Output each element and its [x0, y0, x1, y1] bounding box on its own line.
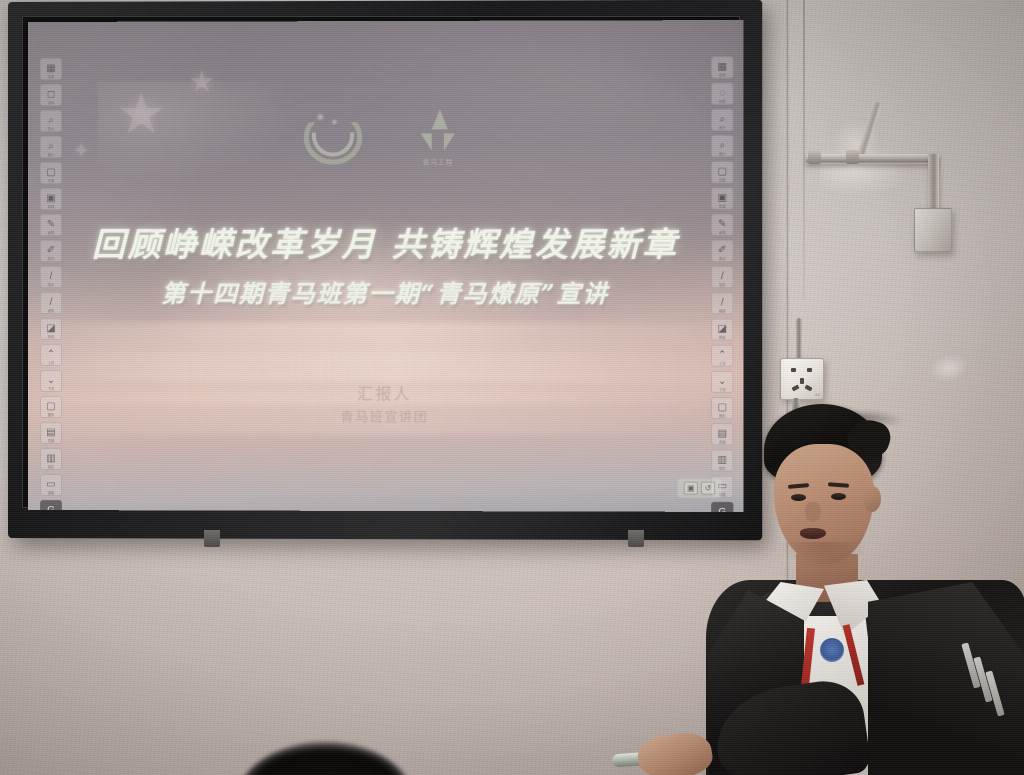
- icon-glyph: ▢: [46, 168, 55, 178]
- socket-slot: [791, 368, 796, 372]
- icon-glyph: ◻: [47, 90, 55, 100]
- icon-caption: 键盘: [41, 492, 61, 495]
- icon-caption: 新建: [41, 206, 61, 209]
- refresh-icon[interactable]: ◌刷新: [711, 83, 733, 105]
- highlighter-icon[interactable]: ✐荧光: [711, 240, 733, 262]
- menu-grid-icon[interactable]: ▦菜单: [40, 58, 62, 80]
- marker-icon[interactable]: /笔形: [40, 266, 62, 288]
- icon-caption: 新建: [712, 205, 732, 208]
- icon-glyph: ⌃: [47, 350, 55, 360]
- page-icon[interactable]: ▢页面: [711, 161, 733, 183]
- hand: [635, 728, 715, 775]
- icon-glyph: ▥: [46, 454, 55, 464]
- icon-caption: 细笔: [41, 310, 61, 313]
- icon-caption: 笔形: [712, 284, 732, 287]
- icon-glyph: /: [721, 272, 724, 282]
- junction-conduit: [929, 250, 936, 278]
- icon-glyph: ▭: [46, 480, 55, 490]
- slide-presenter-line: 汇报人: [28, 380, 744, 405]
- conduit-pipe: [806, 154, 938, 164]
- wall-edge-line: [803, 0, 805, 300]
- icon-glyph: ▤: [46, 428, 55, 438]
- icon-caption: 选择: [41, 102, 61, 105]
- zoom-out-icon[interactable]: ⌕缩小: [40, 136, 62, 158]
- junction-box: [914, 208, 952, 252]
- ear: [864, 486, 881, 512]
- icon-glyph: ⌕: [48, 116, 54, 126]
- chevron-up-icon[interactable]: ⌃上页: [40, 344, 62, 366]
- wall-socket[interactable]: 86: [780, 358, 824, 400]
- page-icon[interactable]: ▢页面: [40, 162, 62, 184]
- slide-title: 回顾峥嵘改革岁月 共铸辉煌发展新章: [28, 218, 744, 266]
- icon-caption: 放大: [712, 126, 732, 129]
- icon-caption: 页面: [712, 179, 732, 182]
- table-icon[interactable]: ▤表格: [40, 422, 62, 444]
- keyboard-icon[interactable]: ▭键盘: [40, 474, 62, 496]
- highlighter-icon[interactable]: ✐荧光: [40, 240, 62, 262]
- icon-caption: 页面: [41, 180, 61, 183]
- chevron-down-icon[interactable]: ⌄下页: [40, 370, 62, 392]
- icon-glyph: ▦: [46, 64, 55, 74]
- socket-label: 86: [815, 392, 820, 397]
- icon-glyph: ✎: [718, 220, 727, 230]
- whiteboard-toolbar-left[interactable]: ▦菜单 ◻选择 ⌕放大 ⌕缩小 ▢页面 ▣新建 ✎画笔 ✐荧光 /笔形 /细笔 …: [40, 58, 62, 512]
- icon-caption: 上页: [41, 362, 61, 365]
- icon-glyph: /: [50, 272, 53, 282]
- icon-caption: 菜单: [41, 76, 61, 79]
- icon-glyph: ◪: [46, 324, 55, 334]
- whiteboard-mount-bracket: [204, 530, 220, 547]
- icon-glyph: ⌕: [719, 115, 725, 125]
- chevron-down-icon[interactable]: ⌄下页: [711, 371, 733, 393]
- youth-league-emblem-icon: [304, 110, 362, 164]
- eye: [791, 494, 806, 501]
- icon-caption: 表格: [41, 440, 61, 443]
- qingma-triangle-mark-icon: 青马工程: [411, 109, 465, 165]
- icon-glyph: ▣: [717, 193, 727, 203]
- icon-caption: 放大: [41, 128, 61, 131]
- icon-glyph: ⌕: [48, 142, 54, 152]
- zoom-out-icon[interactable]: ⌕缩小: [711, 135, 733, 157]
- jaw-shadow: [780, 542, 866, 568]
- socket-cable: [796, 318, 802, 362]
- icon-glyph: ▦: [717, 62, 727, 72]
- icon-caption: 细笔: [712, 310, 732, 313]
- select-cursor-icon[interactable]: ◻选择: [40, 84, 62, 106]
- new-page-icon[interactable]: ▣新建: [711, 187, 733, 209]
- pipe-elbow: [928, 154, 939, 212]
- icon-caption: 橡皮: [712, 336, 732, 339]
- lock-icon[interactable]: ▥锁定: [40, 448, 62, 470]
- zoom-in-icon[interactable]: ⌕放大: [40, 110, 62, 132]
- chevron-up-icon[interactable]: ⌃上页: [711, 345, 733, 367]
- new-page-icon[interactable]: ▣新建: [40, 188, 62, 210]
- eye: [831, 493, 846, 500]
- menu-grid-icon[interactable]: ▦菜单: [711, 56, 733, 78]
- icon-glyph: ▢: [717, 167, 727, 177]
- icon-caption: 画笔: [41, 232, 61, 235]
- icon-caption: 缩小: [712, 153, 732, 156]
- pen-icon[interactable]: ✎画笔: [40, 214, 62, 236]
- icon-caption: 刷新: [712, 100, 732, 103]
- pipe-clamp: [846, 150, 859, 164]
- zoom-in-icon[interactable]: ⌕放大: [711, 109, 733, 131]
- icon-glyph: ✐: [718, 246, 727, 256]
- eraser-icon[interactable]: ◪橡皮: [711, 318, 733, 340]
- icon-glyph: ✎: [47, 220, 55, 230]
- icon-caption: 笔形: [41, 284, 61, 287]
- slide-subtitle: 第十四期青马班第一期“青马燎原”宣讲: [28, 274, 744, 309]
- icon-caption: 锁定: [41, 466, 61, 469]
- icon-caption: 荧光: [41, 258, 61, 261]
- classroom-photo: 86 ★ ★ ✦: [0, 0, 1024, 775]
- icon-caption: 画笔: [712, 231, 732, 234]
- marker-icon[interactable]: /笔形: [711, 266, 733, 288]
- icon-caption: 上页: [712, 362, 732, 365]
- icon-glyph: ▣: [46, 194, 55, 204]
- pen-icon[interactable]: ✎画笔: [711, 214, 733, 236]
- icon-glyph: ⌃: [718, 351, 727, 361]
- shirt-logo: [820, 638, 844, 662]
- socket-slot: [804, 385, 812, 392]
- logo-caption: 青马工程: [411, 157, 465, 167]
- icon-glyph: /: [721, 298, 724, 308]
- icon-caption: 缩小: [41, 154, 61, 157]
- icon-caption: 荧光: [712, 258, 732, 261]
- thin-pen-icon[interactable]: /细笔: [40, 292, 62, 314]
- icon-glyph: /: [50, 298, 53, 308]
- pipe-clamp: [808, 150, 821, 164]
- icon-caption: 下页: [712, 389, 732, 392]
- icon-glyph: ◌: [719, 89, 725, 99]
- student-speaker: [612, 404, 1024, 775]
- icon-caption: 菜单: [712, 74, 732, 77]
- shape-icon[interactable]: ▢图形: [40, 396, 62, 418]
- socket-slot: [800, 378, 804, 384]
- icon-glyph: ⌄: [718, 377, 727, 387]
- thin-pen-icon[interactable]: /细笔: [711, 292, 733, 314]
- slide-logo-row: 青马工程: [28, 109, 744, 166]
- nose: [805, 502, 821, 522]
- icon-glyph: ▢: [46, 402, 55, 412]
- icon-glyph: ⌄: [47, 376, 55, 386]
- icon-glyph: ◪: [717, 324, 727, 334]
- socket-slot: [807, 368, 812, 372]
- icon-caption: 下页: [41, 388, 61, 391]
- star-icon: ★: [188, 68, 215, 98]
- socket-slot: [791, 385, 799, 392]
- icon-caption: 橡皮: [41, 336, 61, 339]
- icon-glyph: ⌕: [719, 141, 725, 151]
- icon-glyph: ✐: [47, 246, 55, 256]
- eraser-icon[interactable]: ◪橡皮: [40, 318, 62, 340]
- icon-caption: 图形: [41, 414, 61, 417]
